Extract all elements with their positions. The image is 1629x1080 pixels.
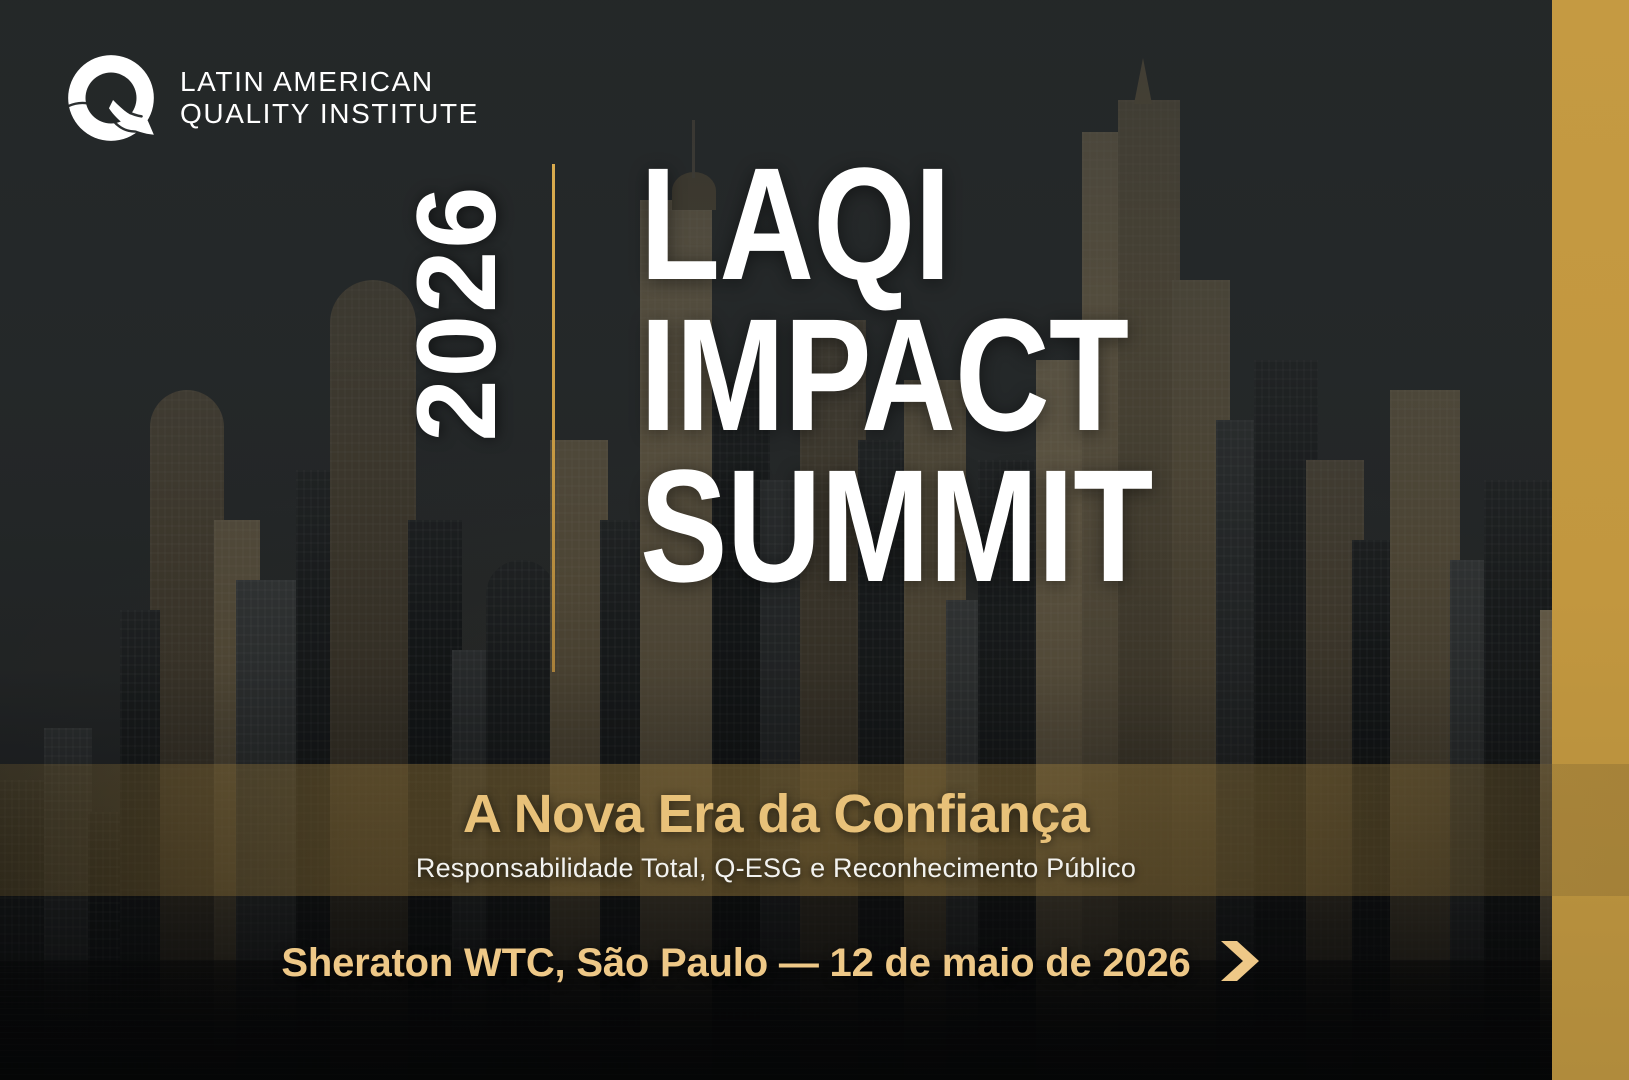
event-title-line-2: IMPACT <box>640 299 1153 450</box>
chevron-right-icon[interactable] <box>1217 938 1271 989</box>
event-title-line-1: LAQI <box>640 148 1153 299</box>
event-tagline: A Nova Era da Confiança <box>0 783 1552 845</box>
venue-date-text: Sheraton WTC, São Paulo — 12 de maio de … <box>281 941 1190 986</box>
laqi-ring-logo-icon <box>60 47 162 149</box>
event-subtagline: Responsabilidade Total, Q-ESG e Reconhec… <box>0 853 1552 884</box>
event-title: LAQI IMPACT SUMMIT <box>640 148 1153 602</box>
event-year: 2026 <box>401 153 511 473</box>
event-title-line-3: SUMMIT <box>640 450 1153 601</box>
vertical-divider-rule <box>552 164 555 672</box>
laqi-logo: LATIN AMERICAN QUALITY INSTITUTE <box>60 47 479 149</box>
organization-name: LATIN AMERICAN QUALITY INSTITUTE <box>180 66 479 131</box>
event-poster: LATIN AMERICAN QUALITY INSTITUTE 2026 LA… <box>0 0 1629 1080</box>
venue-date-row: Sheraton WTC, São Paulo — 12 de maio de … <box>0 938 1552 989</box>
gold-accent-bar <box>1552 0 1629 1080</box>
